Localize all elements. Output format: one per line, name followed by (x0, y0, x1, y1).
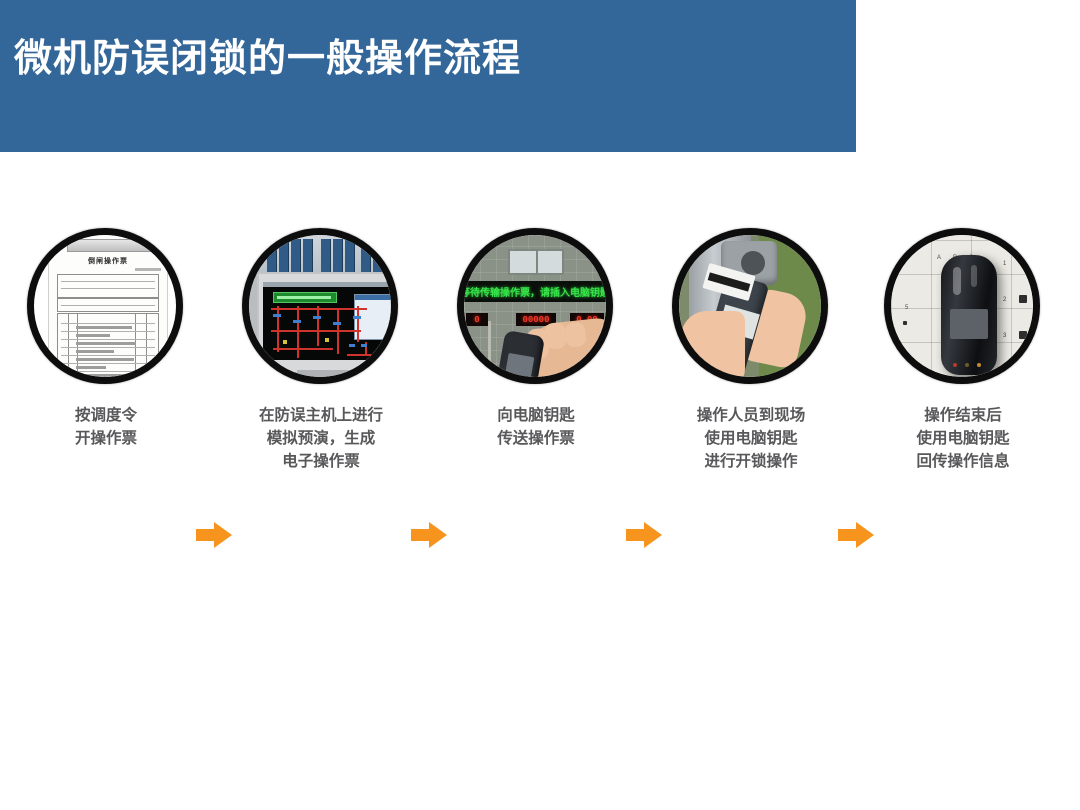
step-5-caption: 操作结束后 使用电脑钥匙 回传操作信息 (860, 404, 1066, 473)
step-2-caption: 在防误主机上进行 模拟预演，生成 电子操作票 (218, 404, 424, 473)
led-message-board: 等待传输操作票，请插入电脑钥匙 (464, 281, 606, 302)
wall-window (508, 249, 564, 275)
electronic-key-in-cradle-image: A B C 1 2 3 4 5 (891, 235, 1033, 377)
ticket-task-box (57, 298, 159, 312)
flow-step-5: A B C 1 2 3 4 5 操 (884, 228, 1042, 384)
arrow-icon-4 (838, 522, 874, 548)
flow-step-3: 等待传输操作票，请插入电脑钥匙 0 00000 0.00 (457, 228, 615, 384)
led-display-transfer-ticket-image: 等待传输操作票，请插入电脑钥匙 0 00000 0.00 (464, 235, 606, 377)
key-display (950, 309, 988, 339)
anti-misoperation-host-monitor-image (249, 235, 391, 377)
arrow-icon-1 (196, 522, 232, 548)
step-4-image-circle (672, 228, 828, 384)
monitor-bezel (257, 272, 391, 374)
ticket-title-text: 倒闸操作票 (49, 256, 167, 266)
scada-banner (273, 292, 337, 303)
flow-step-4: 操作人员到现场 使用电脑钥匙 进行开锁操作 (672, 228, 830, 384)
step-4-caption: 操作人员到现场 使用电脑钥匙 进行开锁操作 (648, 404, 854, 473)
field-unlock-with-electronic-key-image (679, 235, 821, 377)
scada-screen (263, 282, 391, 360)
monitor-base (297, 370, 357, 377)
page-title: 微机防误闭锁的一般操作流程 (14, 33, 521, 85)
wall-pole (488, 321, 491, 377)
arrow-icon-2 (411, 522, 447, 548)
flow-step-1: 倒闸操作票 (27, 228, 185, 384)
led-number-1: 0 (466, 313, 488, 326)
binder-shelf (249, 235, 391, 275)
ticket-number-line (135, 268, 161, 271)
title-banner: 微机防误闭锁的一般操作流程 (0, 0, 856, 152)
step-5-image-circle: A B C 1 2 3 4 5 (884, 228, 1040, 384)
step-1-caption: 按调度令 开操作票 (3, 404, 209, 450)
ticket-header-bar (67, 239, 153, 252)
step-3-image-circle: 等待传输操作票，请插入电脑钥匙 0 00000 0.00 (457, 228, 613, 384)
step-3-caption: 向电脑钥匙 传送操作票 (433, 404, 639, 450)
flow-step-2: 在防误主机上进行 模拟预演，生成 电子操作票 (242, 228, 400, 384)
led-message-text: 等待传输操作票，请插入电脑钥匙 (464, 284, 606, 299)
paper-operation-ticket-image: 倒闸操作票 (34, 235, 176, 377)
ticket-step-table (57, 313, 159, 377)
ticket-info-box (57, 274, 159, 298)
ticket-paper: 倒闸操作票 (48, 235, 168, 377)
electronic-key-device (941, 255, 997, 375)
step-2-image-circle (242, 228, 398, 384)
process-flow: 倒闸操作票 (0, 228, 1080, 488)
step-1-image-circle: 倒闸操作票 (27, 228, 183, 384)
operator-left-hand (681, 311, 745, 377)
arrow-icon-3 (626, 522, 662, 548)
